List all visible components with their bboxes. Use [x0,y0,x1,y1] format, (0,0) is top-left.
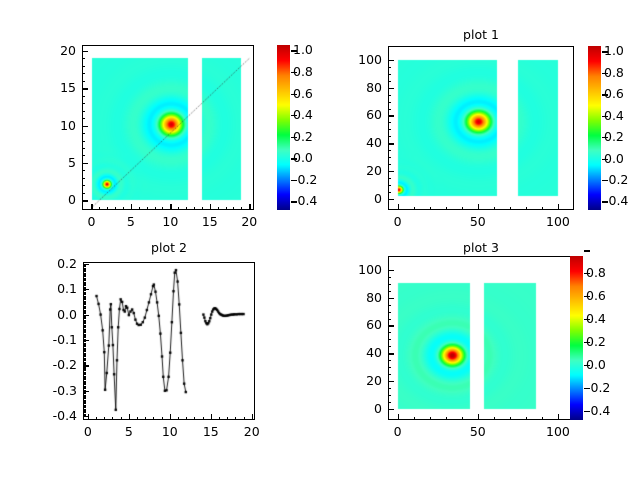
plot-3-xtick [558,414,559,420]
plot-3-cbar-tick-label: -0.2 [586,380,610,395]
plot-3-xtick [478,414,479,420]
plot-3-colorbar [570,256,583,420]
plot-3-title: plot 3 [388,240,574,255]
figure-canvas: 05101520051015201.00.80.60.40.20.0-0.2-0… [0,0,640,480]
plot-3-xtick-label: 100 [536,424,580,439]
plot-3-xtick-minor [542,417,543,420]
plot-3-ytick-minor [388,291,391,292]
plot-3-ytick-minor [388,319,391,320]
panel-bottom-right: plot 30501000204060801000.80.60.40.20.0-… [0,0,640,480]
plot-3-ytick-minor [388,312,391,313]
plot-3-cbar-tick-label: -0.4 [586,403,610,418]
plot-3-xtick-minor [414,417,415,420]
plot-3-ytick-label: 0 [342,401,382,416]
plot-3-xtick-minor [430,417,431,420]
plot-3-ytick [388,325,394,326]
plot-3-ytick-label: 60 [342,317,382,332]
plot-3-cbar-tick-label: 0.6 [586,288,606,303]
plot-3-ytick-minor [388,388,391,389]
plot-3-ytick-label: 80 [342,290,382,305]
plot-3-cbar-tick-label: 0.0 [586,357,606,372]
plot-3-ytick-label: 20 [342,373,382,388]
plot-3-ytick [388,353,394,354]
plot-3-cbar-tick-label: 0.2 [586,334,606,349]
plot-3-ytick-minor [388,305,391,306]
plot-3-ytick-minor [388,367,391,368]
plot-3-ytick-label: 40 [342,345,382,360]
plot-3-cbar-tick-label: 0.8 [586,265,606,280]
plot-3-ytick-minor [388,402,391,403]
plot-3-cbar-tick [584,250,590,251]
plot-3-ytick-minor [388,346,391,347]
plot-3-ytick-minor [388,284,391,285]
plot-3-ytick [388,270,394,271]
plot-3-xtick-minor [494,417,495,420]
plot-3-ytick-minor [388,395,391,396]
plot-3-data-layer [388,256,574,420]
plot-3-ytick-minor [388,374,391,375]
plot-3-ytick-minor [388,360,391,361]
plot-3-ytick [388,381,394,382]
plot-3-xtick [398,414,399,420]
plot-3-ytick [388,298,394,299]
plot-3-xtick-minor [446,417,447,420]
plot-3-xtick-minor [462,417,463,420]
plot-3-xtick-label: 50 [456,424,500,439]
plot-3-ytick-minor [388,339,391,340]
plot-3-ytick [388,409,394,410]
plot-3-cbar-tick-label: 0.4 [586,311,606,326]
plot-3-ytick-minor [388,332,391,333]
plot-3-xtick-minor [526,417,527,420]
plot-3-xtick-minor [510,417,511,420]
plot-3-ytick-minor [388,277,391,278]
plot-3-xtick-label: 0 [376,424,420,439]
plot-3-ytick-label: 100 [342,262,382,277]
